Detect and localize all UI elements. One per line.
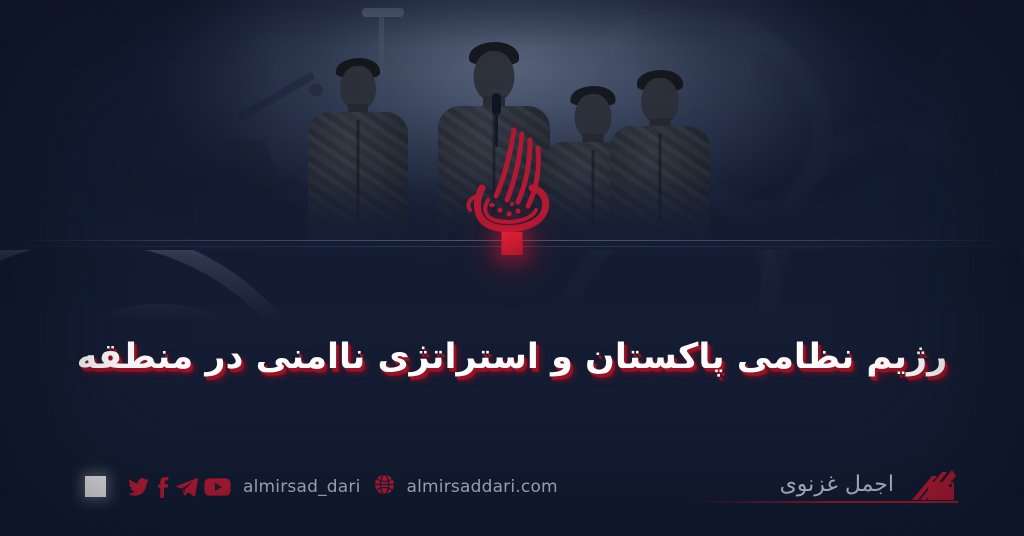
page-title: رژیم نظامی پاکستان و استراتژی ناامنی در …	[0, 335, 1024, 381]
website-url[interactable]: almirsaddari.com	[407, 477, 558, 497]
author-underline	[682, 501, 958, 503]
social-bar: almirsad_dari almirsaddari.com	[85, 474, 558, 499]
red-square-marker	[502, 232, 523, 255]
facebook-icon[interactable]	[155, 476, 170, 498]
social-icon-group	[126, 476, 231, 498]
telegram-icon[interactable]	[174, 476, 200, 498]
author-block: اجمل غزنوی	[780, 466, 958, 502]
youtube-icon[interactable]	[204, 476, 231, 498]
globe-icon	[374, 474, 395, 499]
al-mirsad-calligraphy-logo	[452, 126, 572, 236]
social-media-card: رژیم نظامی پاکستان و استراتژی ناامنی در …	[0, 0, 1024, 536]
social-handle[interactable]: almirsad_dari	[243, 477, 361, 497]
pen-signature-icon	[906, 466, 958, 502]
author-name: اجمل غزنوی	[780, 472, 894, 497]
white-square-marker	[85, 476, 106, 497]
twitter-icon[interactable]	[126, 476, 151, 498]
